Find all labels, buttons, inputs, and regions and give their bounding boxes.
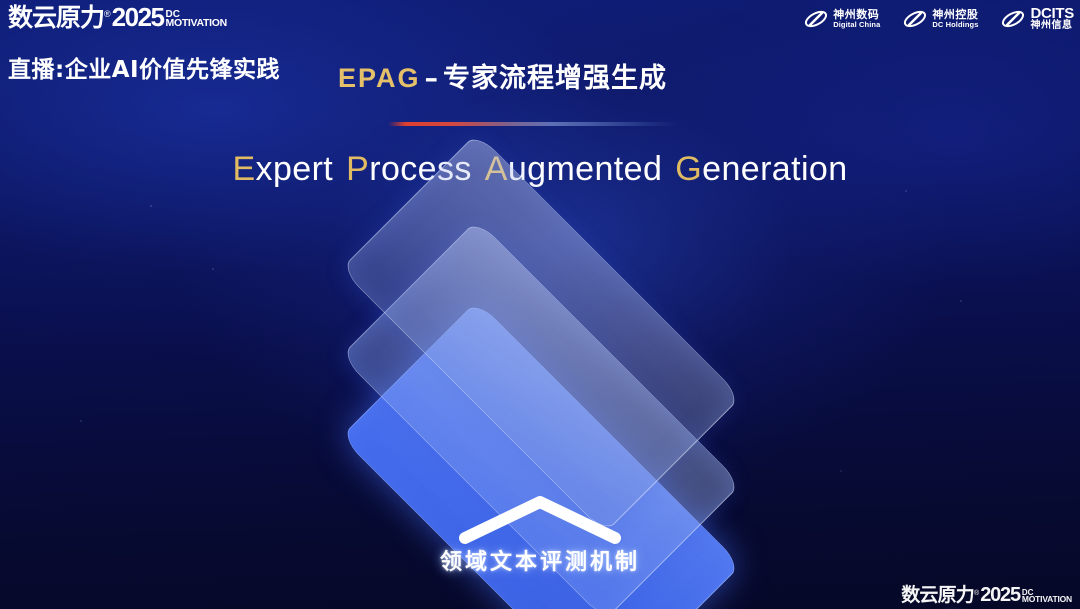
watermark-dc-bottom: MOTIVATION — [1022, 596, 1072, 604]
stack-layer-top-label: 领域文本评测机制 — [282, 544, 798, 576]
partner-name-en: Digital China — [833, 21, 880, 29]
partner-name-cn: 神州数码 — [833, 9, 880, 21]
subtitle-expansion: ExpertProcessAugmentedGeneration — [0, 150, 1080, 189]
partner-logo-dc-holdings: 神州控股 DC Holdings — [902, 7, 978, 31]
partner-name-cn: 神州信息 — [1030, 21, 1074, 32]
background-speck — [150, 205, 152, 207]
subtitle-word-initial: G — [675, 150, 702, 188]
watermark-dc-motivation: DC MOTIVATION — [1022, 589, 1072, 604]
background-speck — [905, 190, 907, 192]
dcits-swirl-icon — [1000, 7, 1026, 31]
subtitle-word-initial: E — [232, 150, 255, 188]
partner-text-dcits: DCITS 神州信息 — [1030, 6, 1074, 32]
partner-text-dc-holdings: 神州控股 DC Holdings — [932, 9, 978, 28]
background-speck — [80, 420, 82, 422]
subtitle-word: Expert — [232, 150, 333, 188]
background-speck — [960, 300, 962, 302]
subtitle-word-rest: xpert — [256, 150, 334, 188]
subtitle-word-rest: eneration — [702, 150, 847, 188]
background-speck — [840, 470, 842, 472]
event-brand-logo: 数云原力 ® 2025 DC MOTIVATION — [8, 4, 227, 30]
brand-dc-motivation: DC MOTIVATION — [166, 10, 227, 29]
page-title-acronym: EPAG — [338, 63, 421, 93]
brand-name-cn: 数云原力 — [8, 5, 104, 30]
page-title-chinese: 专家流程增强生成 — [443, 63, 667, 94]
partner-name-en: DC Holdings — [932, 21, 978, 29]
brand-dc-bottom: MOTIVATION — [166, 19, 227, 29]
live-broadcast-title: 直播:企业AI价值先锋实践 — [8, 50, 280, 84]
watermark-year: 2025 — [980, 585, 1020, 605]
title-divider — [388, 122, 680, 126]
brand-year: 2025 — [112, 4, 164, 30]
subtitle-word-rest: ugmented — [508, 150, 662, 188]
watermark-name-cn: 数云原力 — [901, 586, 974, 605]
layered-stack-diagram: 领域文本评测机制 Dynamic MOE 长文本记忆 三类语义建模模块 — [282, 218, 798, 578]
footer-watermark: 数云原力 ® 2025 DC MOTIVATION — [901, 585, 1072, 605]
partner-logo-dcits: DCITS 神州信息 — [1000, 6, 1074, 32]
dc-holdings-swirl-icon — [902, 7, 928, 31]
partner-name-en: DCITS — [1030, 6, 1074, 21]
watermark-registered-mark-icon: ® — [974, 590, 979, 597]
page-title: EPAG–专家流程增强生成 — [338, 56, 667, 95]
background-speck — [212, 268, 214, 270]
subtitle-word-initial: P — [346, 150, 369, 188]
digital-china-swirl-icon — [803, 7, 829, 31]
partner-logo-group: 神州数码 Digital China 神州控股 DC Holdings DCIT… — [803, 6, 1074, 32]
slide-canvas: 数云原力 ® 2025 DC MOTIVATION 直播:企业AI价值先锋实践 … — [0, 0, 1080, 609]
subtitle-word: Generation — [675, 150, 847, 188]
partner-logo-digital-china: 神州数码 Digital China — [803, 7, 880, 31]
partner-text-digital-china: 神州数码 Digital China — [833, 9, 880, 28]
registered-mark-icon: ® — [104, 9, 111, 19]
partner-name-cn: 神州控股 — [932, 9, 978, 21]
page-title-dash: – — [425, 63, 440, 94]
